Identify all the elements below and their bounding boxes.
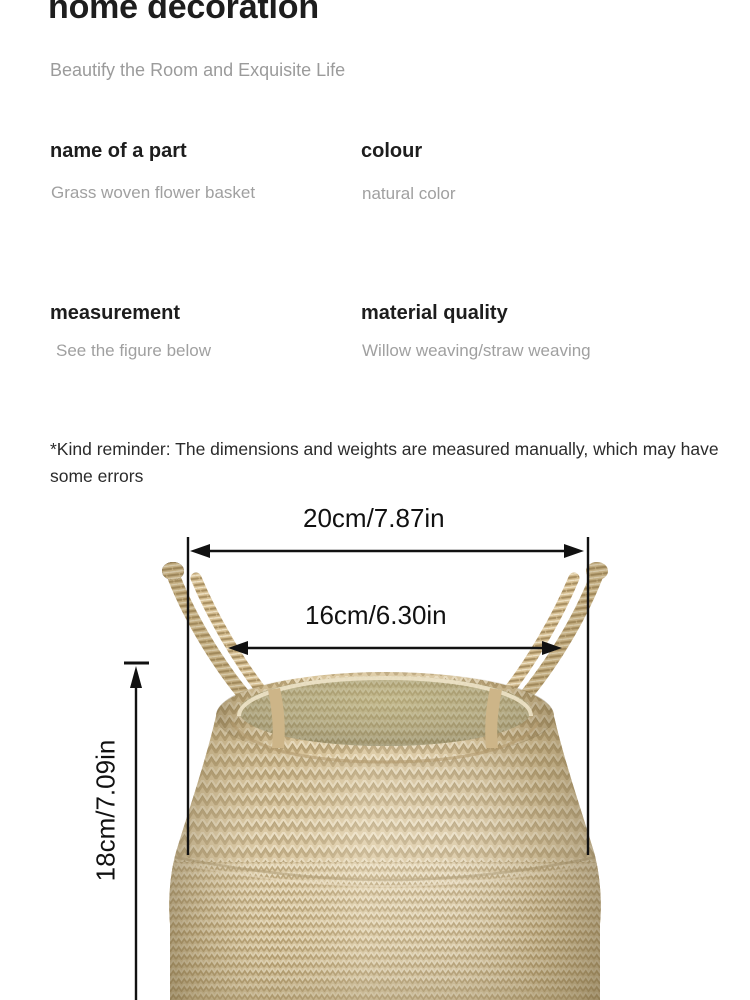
dimension-arrow-top-width (190, 544, 584, 558)
dimension-figure: 20cm/7.87in 16cm/6.30in 18cm/7.09in (0, 0, 750, 1000)
product-detail-page: home decoration Beautify the Room and Ex… (0, 0, 750, 1000)
dimension-arrow-inner-width (228, 641, 562, 655)
dimension-arrow-height (124, 663, 149, 1000)
dimension-label-top-width: 20cm/7.87in (303, 503, 445, 534)
dimension-label-height: 18cm/7.09in (91, 701, 122, 921)
dimension-label-inner-width: 16cm/6.30in (305, 600, 447, 631)
